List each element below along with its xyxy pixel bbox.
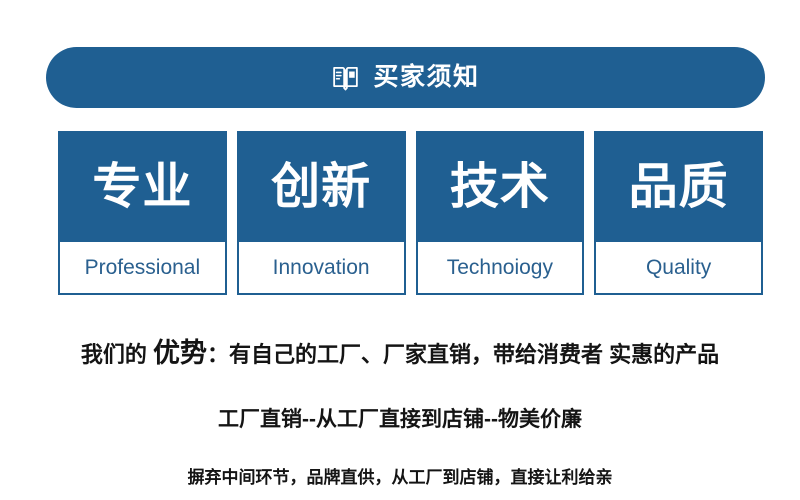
feature-en-label: Professional	[85, 257, 201, 278]
feature-box-row: 专业 Professional 创新 Innovation 技术 Technoi…	[58, 131, 763, 295]
feature-en-label: Quality	[646, 257, 711, 278]
banner-title: 买家须知	[373, 65, 479, 90]
feature-box-professional: 专业 Professional	[58, 131, 227, 295]
feature-top-professional: 专业	[60, 133, 225, 242]
feature-cn-label: 创新	[271, 163, 371, 212]
no-middleman-line: 摒弃中间环节，品牌直供，从工厂到店铺，直接让利给亲	[0, 430, 800, 486]
feature-cn-label: 专业	[92, 163, 192, 212]
feature-cn-label: 技术	[450, 163, 550, 212]
buyer-notice-banner: 买家须知	[46, 47, 765, 108]
feature-box-quality: 品质 Quality	[594, 131, 763, 295]
feature-bottom-professional: Professional	[60, 242, 225, 293]
feature-cn-label: 品质	[629, 163, 729, 212]
feature-bottom-technology: Technoiogy	[418, 242, 583, 293]
advantage-headline: 我们的 优势：有自己的工厂、厂家直销，带给消费者 实惠的产品	[0, 320, 800, 367]
feature-box-technology: 技术 Technoiogy	[416, 131, 585, 295]
feature-bottom-innovation: Innovation	[239, 242, 404, 293]
advantage-prefix: 我们的	[81, 342, 153, 367]
feature-box-innovation: 创新 Innovation	[237, 131, 406, 295]
feature-en-label: Innovation	[273, 257, 370, 278]
advantage-emphasis: 优势	[153, 338, 207, 368]
feature-top-quality: 品质	[596, 133, 761, 242]
feature-top-technology: 技术	[418, 133, 583, 242]
feature-en-label: Technoiogy	[447, 257, 553, 278]
open-book-icon	[331, 64, 360, 93]
advantage-text-block: 我们的 优势：有自己的工厂、厂家直销，带给消费者 实惠的产品 工厂直销--从工厂…	[0, 320, 800, 486]
feature-bottom-quality: Quality	[596, 242, 761, 293]
feature-top-innovation: 创新	[239, 133, 404, 242]
advantage-suffix: ：有自己的工厂、厂家直销，带给消费者 实惠的产品	[207, 342, 719, 367]
promo-page: 买家须知 专业 Professional 创新 Innovation 技术	[0, 0, 800, 500]
factory-direct-line: 工厂直销--从工厂直接到店铺--物美价廉	[0, 367, 800, 430]
